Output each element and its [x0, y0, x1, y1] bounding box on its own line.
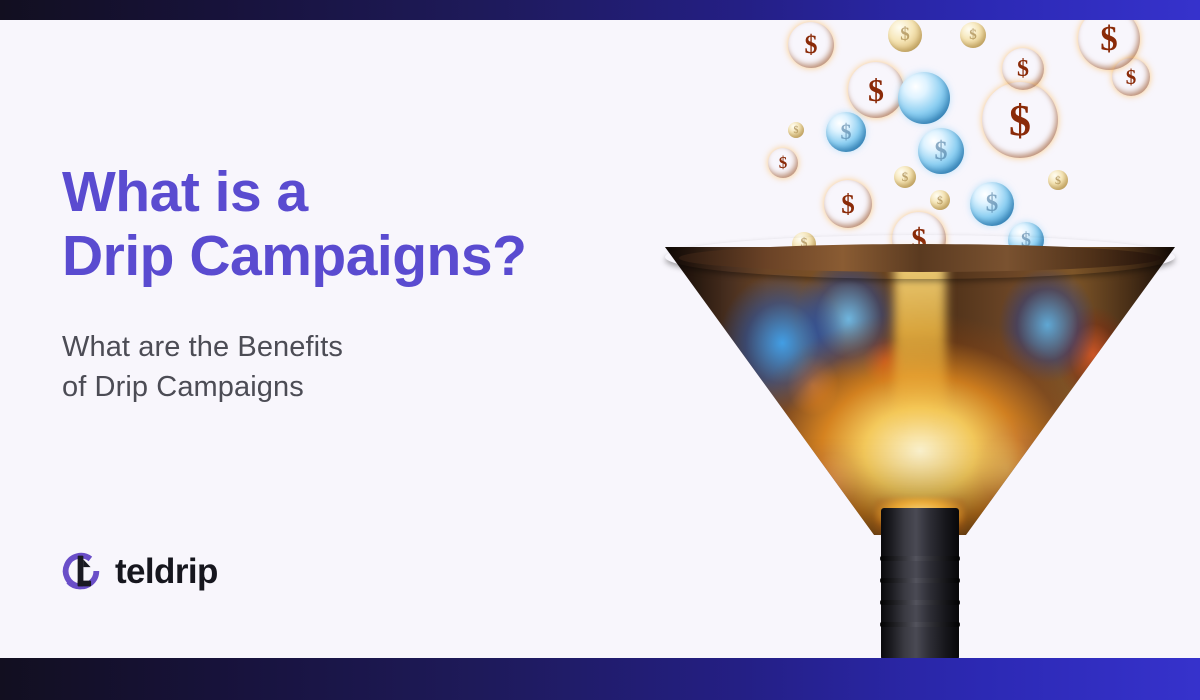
dollar-sign-icon: $	[982, 82, 1058, 158]
coin-gold-6: $	[982, 82, 1058, 158]
dollar-sign-icon: $	[930, 190, 950, 210]
orb-blue-2: $	[918, 128, 964, 174]
orb-blue-3: $	[826, 112, 866, 152]
dollar-sign-icon: $	[1048, 170, 1068, 190]
brand-logo[interactable]: teldrip	[58, 548, 218, 594]
page-subtitle: What are the Benefits of Drip Campaigns	[62, 327, 682, 407]
orb-blue-4: $	[970, 182, 1014, 226]
dollar-sign-icon: $	[960, 22, 986, 48]
dollar-sign-icon: $	[788, 22, 834, 68]
top-accent-bar	[0, 0, 1200, 20]
coin-pale-1: $	[888, 18, 922, 52]
funnel-stem-ring	[880, 578, 960, 583]
dollar-sign-icon: $	[888, 18, 922, 52]
funnel-stem-ring	[880, 622, 960, 627]
teldrip-circle-monogram-icon	[58, 548, 104, 594]
funnel-stem-ring	[880, 600, 960, 605]
coin-pale-6: $	[1048, 170, 1068, 190]
dollar-sign-icon: $	[826, 112, 866, 152]
dollar-sign-icon: $	[970, 182, 1014, 226]
funnel-stem-ring	[880, 556, 960, 561]
dollar-sign-icon: $	[918, 128, 964, 174]
dollar-sign-icon: $	[894, 166, 916, 188]
funnel-artwork: $$$$$$$$$$$$$$$$$$$$	[640, 0, 1200, 700]
coin-pale-4: $	[930, 190, 950, 210]
coin-gold-5: $	[1112, 58, 1150, 96]
dollar-sign-icon: $	[824, 180, 872, 228]
coin-gold-7: $	[824, 180, 872, 228]
dollar-sign-icon: $	[848, 62, 904, 118]
dollar-sign-icon: $	[1112, 58, 1150, 96]
headline-block: What is a Drip Campaigns? What are the B…	[62, 160, 682, 407]
dollar-sign-icon: $	[788, 122, 804, 138]
coin-gold-1: $	[788, 22, 834, 68]
drip-campaign-banner: $$$$$$$$$$$$$$$$$$$$ What is a Drip Camp…	[0, 0, 1200, 700]
coin-pale-2: $	[960, 22, 986, 48]
funnel-stem	[881, 508, 959, 660]
page-title: What is a Drip Campaigns?	[62, 160, 682, 289]
coin-gold-9: $	[768, 148, 798, 178]
funnel-rim-inner	[679, 244, 1161, 272]
logo-wordmark: teldrip	[115, 554, 218, 589]
coin-pale-5: $	[788, 122, 804, 138]
coin-pale-3: $	[894, 166, 916, 188]
orb-blue-1	[898, 72, 950, 124]
dollar-sign-icon: $	[768, 148, 798, 178]
funnel-icon	[665, 235, 1175, 535]
coin-gold-2: $	[848, 62, 904, 118]
bottom-accent-bar	[0, 658, 1200, 700]
